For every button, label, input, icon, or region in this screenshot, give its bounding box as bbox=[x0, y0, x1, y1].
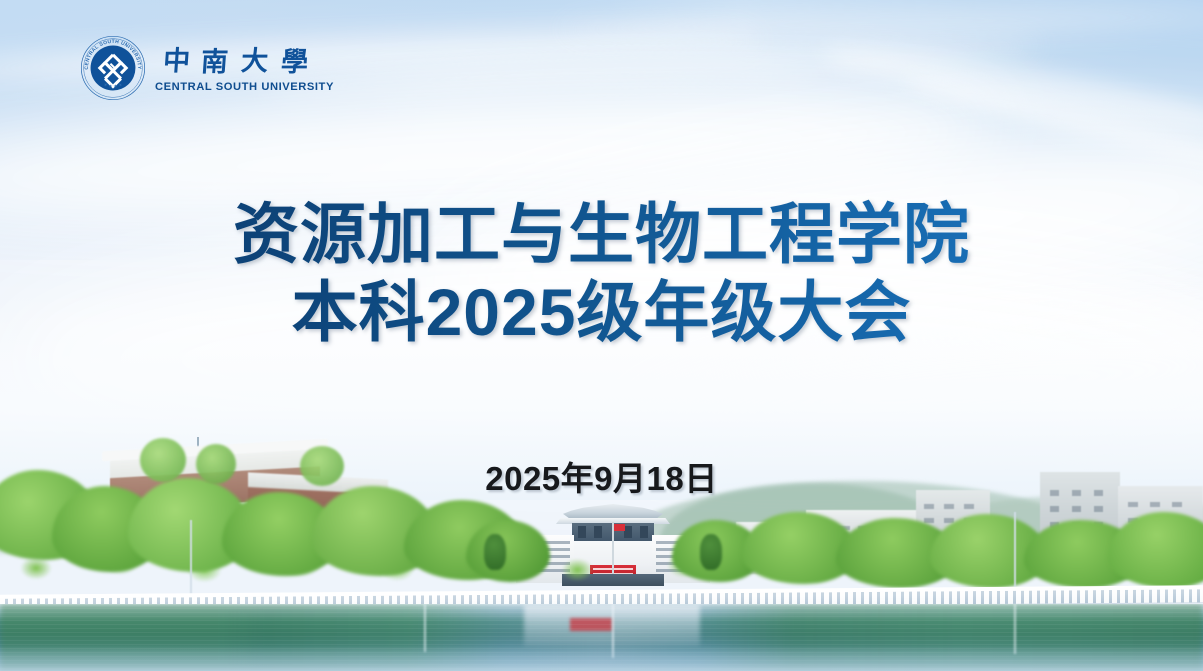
svg-text:南: 南 bbox=[200, 47, 229, 78]
university-logo[interactable]: CENTRAL SOUTH UNIVERSITY ★ ★ ★ ★ 中 南 大 學… bbox=[80, 35, 334, 101]
lake-water bbox=[0, 604, 1203, 671]
wordmark-chinese-icon: 中 南 大 學 bbox=[155, 42, 334, 80]
presentation-slide: CENTRAL SOUTH UNIVERSITY ★ ★ ★ ★ 中 南 大 學… bbox=[0, 0, 1203, 671]
water-highlight bbox=[0, 645, 1203, 671]
title-line-1: 资源加工与生物工程学院 bbox=[0, 196, 1203, 274]
svg-text:大: 大 bbox=[240, 46, 269, 77]
slide-title: 资源加工与生物工程学院 本科2025级年级大会 bbox=[0, 196, 1203, 352]
title-line-2: 本科2025级年级大会 bbox=[0, 274, 1203, 352]
svg-text:中: 中 bbox=[162, 46, 191, 77]
logo-wordmark: 中 南 大 學 CENTRAL SOUTH UNIVERSITY bbox=[155, 42, 334, 93]
lamp-post bbox=[190, 520, 192, 594]
svg-text:學: 學 bbox=[280, 47, 309, 78]
slide-date: 2025年9月18日 bbox=[0, 452, 1203, 500]
date-text: 2025年9月18日 bbox=[485, 460, 717, 497]
lamp-post bbox=[1014, 512, 1016, 594]
wordmark-english: CENTRAL SOUTH UNIVERSITY bbox=[155, 82, 334, 93]
university-seal-icon: CENTRAL SOUTH UNIVERSITY ★ ★ ★ ★ bbox=[80, 35, 146, 101]
